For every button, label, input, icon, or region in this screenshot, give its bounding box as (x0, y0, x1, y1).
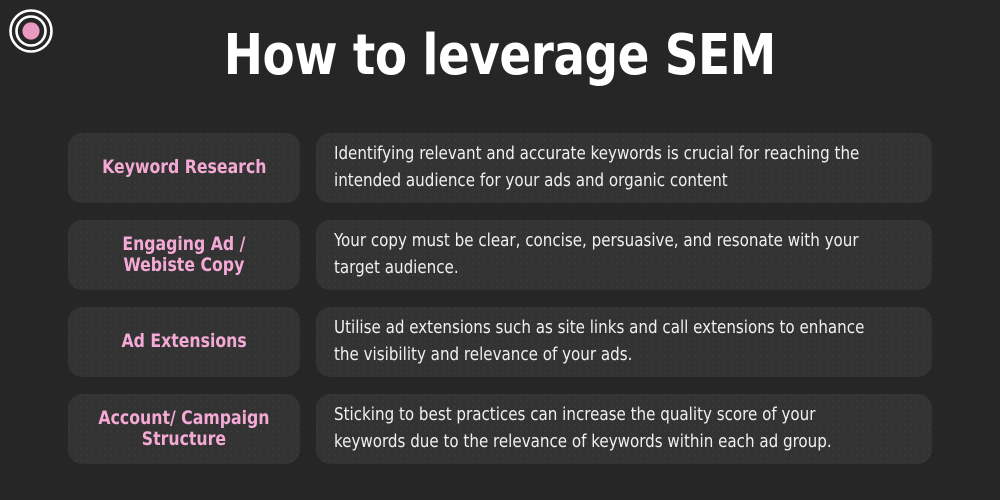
tip-label-card-3: Ad Extensions (68, 307, 300, 377)
page-title: How to leverage SEM (224, 28, 776, 84)
header: How to leverage SEM (0, 28, 1000, 84)
list-item: Keyword Research Identifying relevant an… (68, 133, 932, 203)
tip-description-1: Identifying relevant and accurate keywor… (334, 141, 891, 195)
tip-label-card-2: Engaging Ad / Webiste Copy (68, 220, 300, 290)
tip-description-card-3: Utilise ad extensions such as site links… (316, 307, 932, 377)
tip-label-4: Account/ Campaign Structure (98, 408, 269, 451)
tips-list: Keyword Research Identifying relevant an… (68, 133, 932, 464)
tip-label-card-1: Keyword Research (68, 133, 300, 203)
list-item: Account/ Campaign Structure Sticking to … (68, 394, 932, 464)
tip-label-card-4: Account/ Campaign Structure (68, 394, 300, 464)
tip-description-card-4: Sticking to best practices can increase … (316, 394, 932, 464)
tip-description-4: Sticking to best practices can increase … (334, 402, 891, 456)
tip-description-card-1: Identifying relevant and accurate keywor… (316, 133, 932, 203)
tip-description-2: Your copy must be clear, concise, persua… (334, 228, 891, 282)
tip-description-card-2: Your copy must be clear, concise, persua… (316, 220, 932, 290)
list-item: Ad Extensions Utilise ad extensions such… (68, 307, 932, 377)
tip-label-2: Engaging Ad / Webiste Copy (122, 234, 245, 277)
tip-description-3: Utilise ad extensions such as site links… (334, 315, 891, 369)
tip-label-1: Keyword Research (102, 157, 266, 178)
tip-label-3: Ad Extensions (121, 331, 246, 352)
list-item: Engaging Ad / Webiste Copy Your copy mus… (68, 220, 932, 290)
